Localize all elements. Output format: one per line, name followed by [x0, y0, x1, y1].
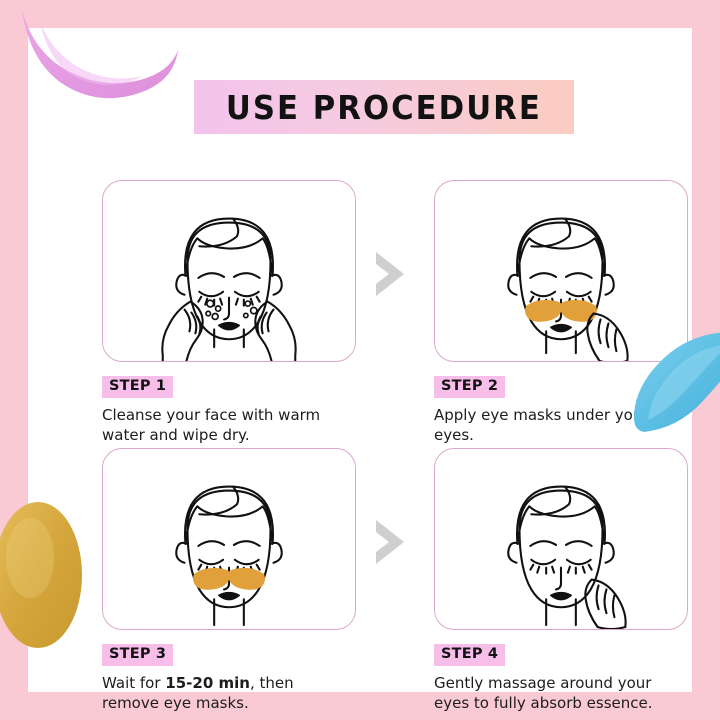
- infographic-page: USE PROCEDURE: [0, 0, 720, 720]
- step-3-label: STEP 3: [102, 644, 173, 666]
- step-1-description: Cleanse your face with warm water and wi…: [102, 405, 352, 446]
- step-2-label: STEP 2: [434, 376, 505, 398]
- step-3-description: Wait for 15-20 min, then remove eye mask…: [102, 673, 352, 714]
- step-card-1: STEP 1 Cleanse your face with warm water…: [102, 180, 356, 446]
- step-card-2: STEP 2 Apply eye masks under your eyes.: [434, 180, 688, 446]
- page-title: USE PROCEDURE: [226, 88, 542, 127]
- step-4-description: Gently massage around your eyes to fully…: [434, 673, 684, 714]
- step-3-text-bold: 15-20 min: [165, 674, 250, 692]
- step-2-text-before: Apply eye masks under your eyes.: [434, 406, 649, 445]
- step-card-4: STEP 4 Gently massage around your eyes t…: [434, 448, 688, 714]
- step-2-illustration-card: [434, 180, 688, 362]
- step-3-text-before: Wait for: [102, 674, 165, 692]
- face-resting-with-eye-patches-icon: [103, 449, 355, 629]
- step-1-label: STEP 1: [102, 376, 173, 398]
- step-4-text-before: Gently massage around your eyes to fully…: [434, 674, 653, 713]
- face-massaging-icon: [435, 449, 687, 629]
- white-canvas: USE PROCEDURE: [28, 28, 692, 692]
- step-4-label: STEP 4: [434, 644, 505, 666]
- page-title-banner: USE PROCEDURE: [194, 80, 574, 134]
- chevron-right-icon: [366, 246, 412, 302]
- step-3-illustration-card: [102, 448, 356, 630]
- step-2-description: Apply eye masks under your eyes.: [434, 405, 684, 446]
- chevron-right-icon: [366, 514, 412, 570]
- step-1-text-before: Cleanse your face with warm water and wi…: [102, 406, 320, 445]
- step-4-illustration-card: [434, 448, 688, 630]
- face-with-eye-patches-applying-icon: [435, 181, 687, 361]
- chevron-right-glyph: [366, 246, 412, 302]
- face-washing-icon: [103, 181, 355, 361]
- chevron-right-glyph: [366, 514, 412, 570]
- step-1-illustration-card: [102, 180, 356, 362]
- step-card-3: STEP 3 Wait for 15-20 min, then remove e…: [102, 448, 356, 714]
